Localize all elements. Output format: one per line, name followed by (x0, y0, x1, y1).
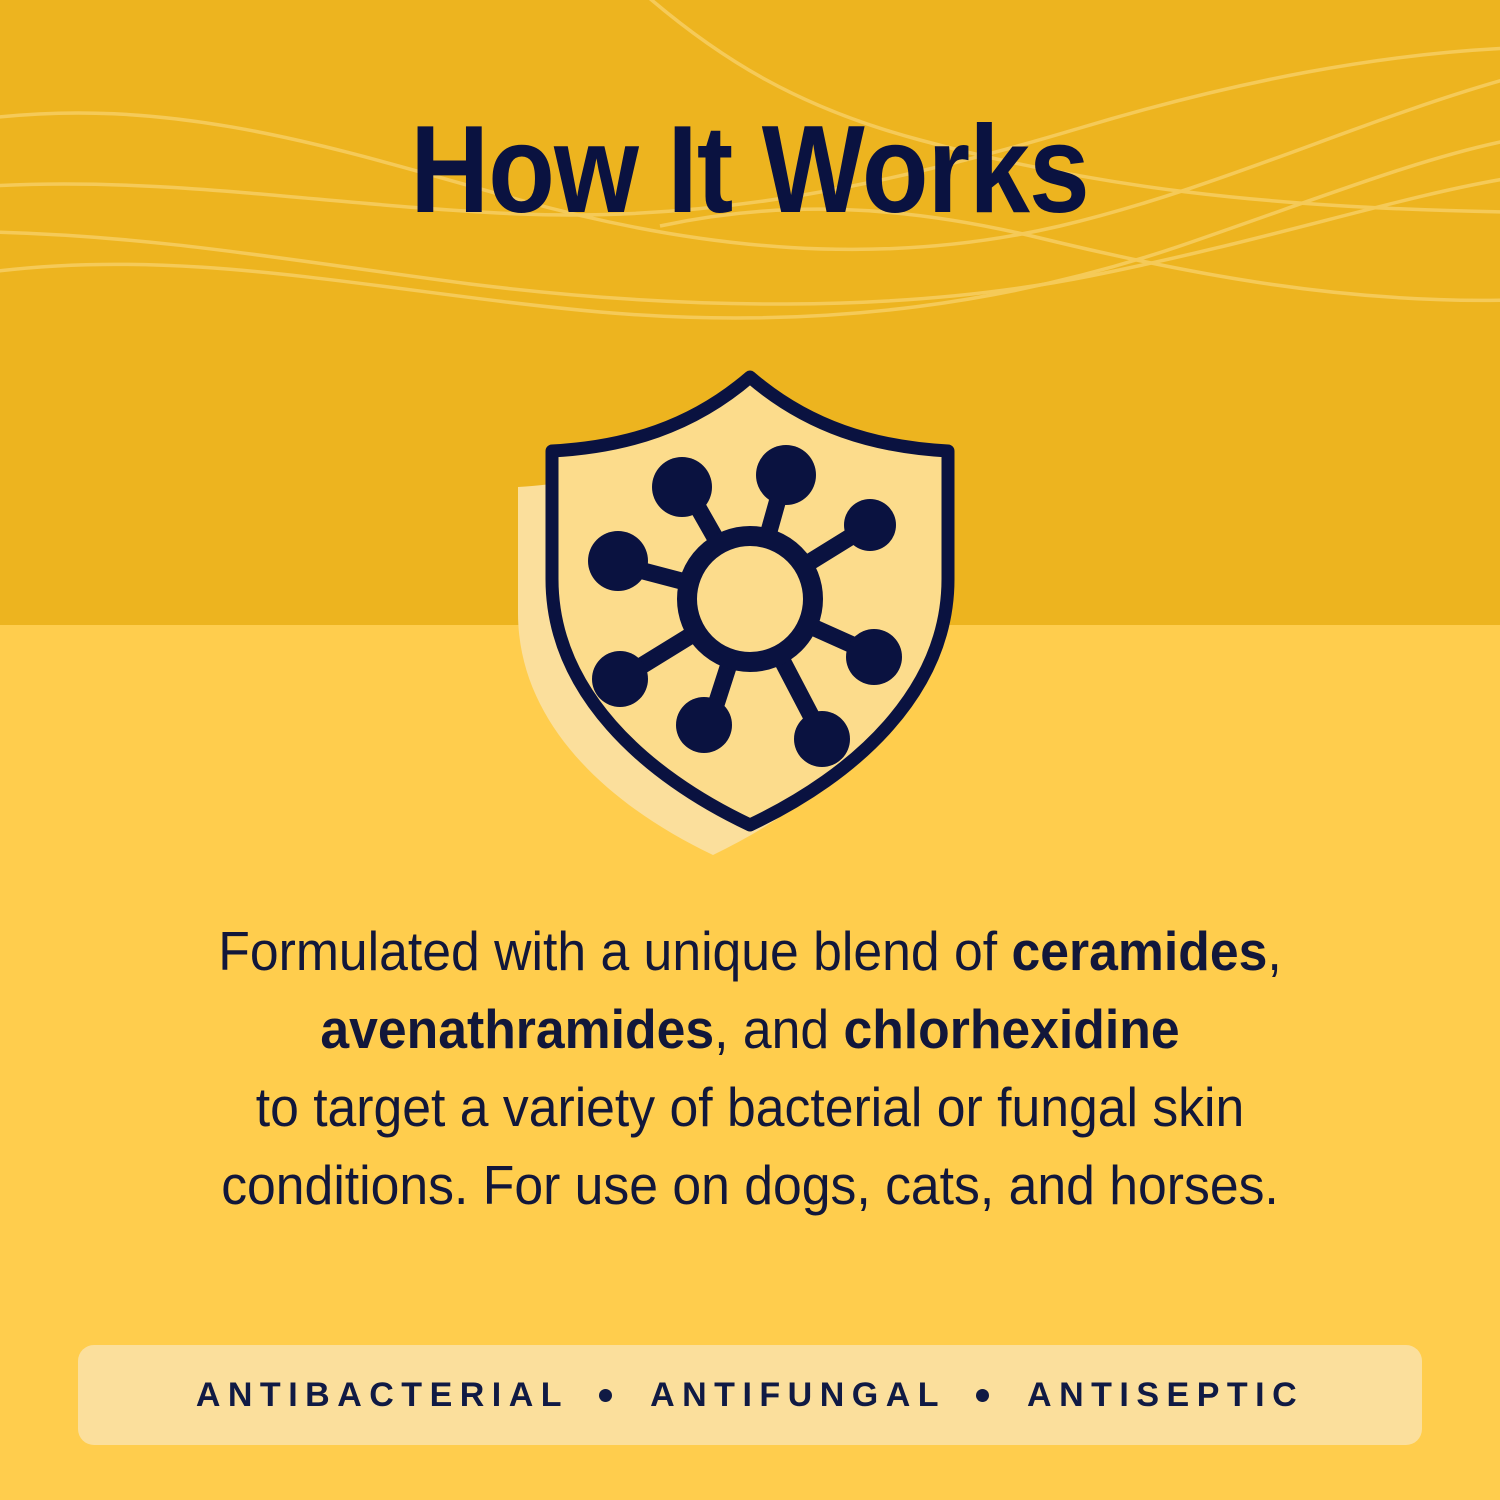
body-line-1-part-1: Formulated with a unique blend of (218, 920, 1011, 982)
body-line-3: to target a variety of bacterial or fung… (167, 1068, 1333, 1146)
how-it-works-infographic: How It Works (0, 0, 1500, 1500)
page-title: How It Works (411, 108, 1090, 232)
ingredient-ceramides: ceramides (1012, 920, 1268, 982)
body-line-2: avenathramides, and chlorhexidine (167, 990, 1333, 1068)
claim-antifungal: ANTIFUNGAL (650, 1376, 946, 1415)
claims-badge-bar: ANTIBACTERIAL ANTIFUNGAL ANTISEPTIC (78, 1345, 1422, 1445)
claims-list: ANTIBACTERIAL ANTIFUNGAL ANTISEPTIC (196, 1376, 1304, 1415)
bullet-separator-icon (599, 1389, 612, 1402)
shield-germ-icon (460, 355, 1040, 875)
body-line-2-part-2: , and (714, 998, 843, 1060)
bullet-separator-icon (976, 1389, 989, 1402)
claim-antibacterial: ANTIBACTERIAL (196, 1376, 569, 1415)
claim-antiseptic: ANTISEPTIC (1027, 1376, 1304, 1415)
body-line-1-part-3: , (1267, 920, 1281, 982)
body-line-4: conditions. For use on dogs, cats, and h… (167, 1146, 1333, 1224)
body-paragraph: Formulated with a unique blend of cerami… (130, 912, 1370, 1224)
ingredient-chlorhexidine: chlorhexidine (843, 998, 1179, 1060)
ingredient-avenathramides: avenathramides (320, 998, 714, 1060)
body-line-1: Formulated with a unique blend of cerami… (167, 912, 1333, 990)
page-title-container: How It Works (0, 108, 1500, 232)
